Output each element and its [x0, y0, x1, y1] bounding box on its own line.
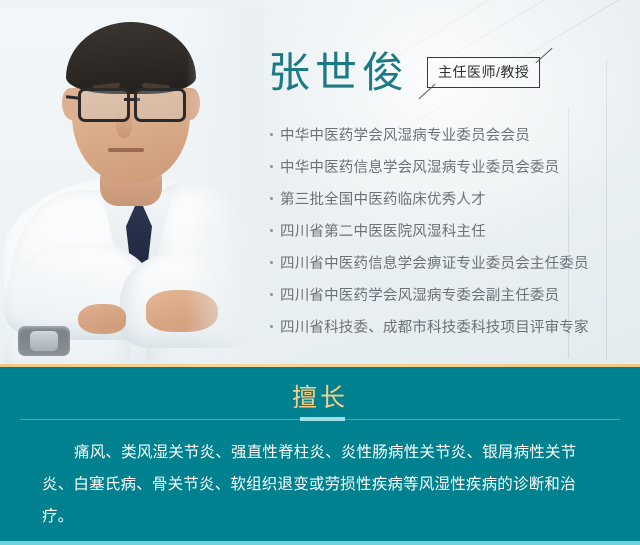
specialty-description: 痛风、类风湿关节炎、强直性脊柱炎、炎性肠病性关节炎、银屑病性关节炎、白塞氏病、骨… — [42, 437, 602, 533]
bullet-icon — [270, 293, 273, 296]
bullet-icon — [270, 325, 273, 328]
list-item: 四川省中医药学会风湿病专委会副主任委员 — [270, 280, 632, 312]
doctor-title-badge: 主任医师/教授 — [427, 57, 546, 94]
doctor-portrait-photo — [0, 8, 264, 366]
doctor-name: 张世俊 — [268, 52, 409, 94]
credential-text: 四川省中医药信息学会痹证专业委员会主任委员 — [280, 248, 589, 280]
list-item: 四川省科技委、成都市科技委科技项目评审专家 — [270, 312, 632, 344]
credential-text: 四川省中医药学会风湿病专委会副主任委员 — [280, 280, 559, 312]
bullet-icon — [270, 229, 273, 232]
list-item: 中华中医药学会风湿病专业委员会会员 — [270, 120, 632, 152]
list-item: 四川省中医药信息学会痹证专业委员会主任委员 — [270, 248, 632, 280]
list-item: 中华中医药信息学会风湿病专业委员会委员 — [270, 152, 632, 184]
bullet-icon — [270, 133, 273, 136]
doctor-title-label: 主任医师/教授 — [427, 57, 540, 88]
specialty-underline-accent — [300, 417, 345, 421]
bullet-icon — [270, 261, 273, 264]
credential-text: 中华中医药信息学会风湿病专业委员会委员 — [280, 152, 559, 184]
profile-header-section: 张世俊 主任医师/教授 中华中医药学会风湿病专业委员会会员 中华中医药信息学会风… — [0, 0, 640, 366]
list-item: 四川省第二中医医院风湿科主任 — [270, 216, 632, 248]
specialty-title: 擅长 — [0, 378, 640, 414]
credential-text: 四川省第二中医医院风湿科主任 — [280, 216, 486, 248]
credential-text: 四川省科技委、成都市科技委科技项目评审专家 — [280, 312, 589, 344]
eyeglasses-icon — [78, 88, 186, 118]
bullet-icon — [270, 197, 273, 200]
bullet-icon — [270, 165, 273, 168]
credential-list: 中华中医药学会风湿病专业委员会会员 中华中医药信息学会风湿病专业委员会委员 第三… — [270, 120, 632, 344]
credential-text: 第三批全国中医药临床优秀人才 — [280, 184, 486, 216]
credential-text: 中华中医药学会风湿病专业委员会会员 — [280, 120, 530, 152]
doctor-name-row: 张世俊 主任医师/教授 — [268, 52, 546, 94]
list-item: 第三批全国中医药临床优秀人才 — [270, 184, 632, 216]
doctor-profile-card: 张世俊 主任医师/教授 中华中医药学会风湿病专业委员会会员 中华中医药信息学会风… — [0, 0, 640, 545]
footer-accent-bar — [0, 541, 640, 545]
